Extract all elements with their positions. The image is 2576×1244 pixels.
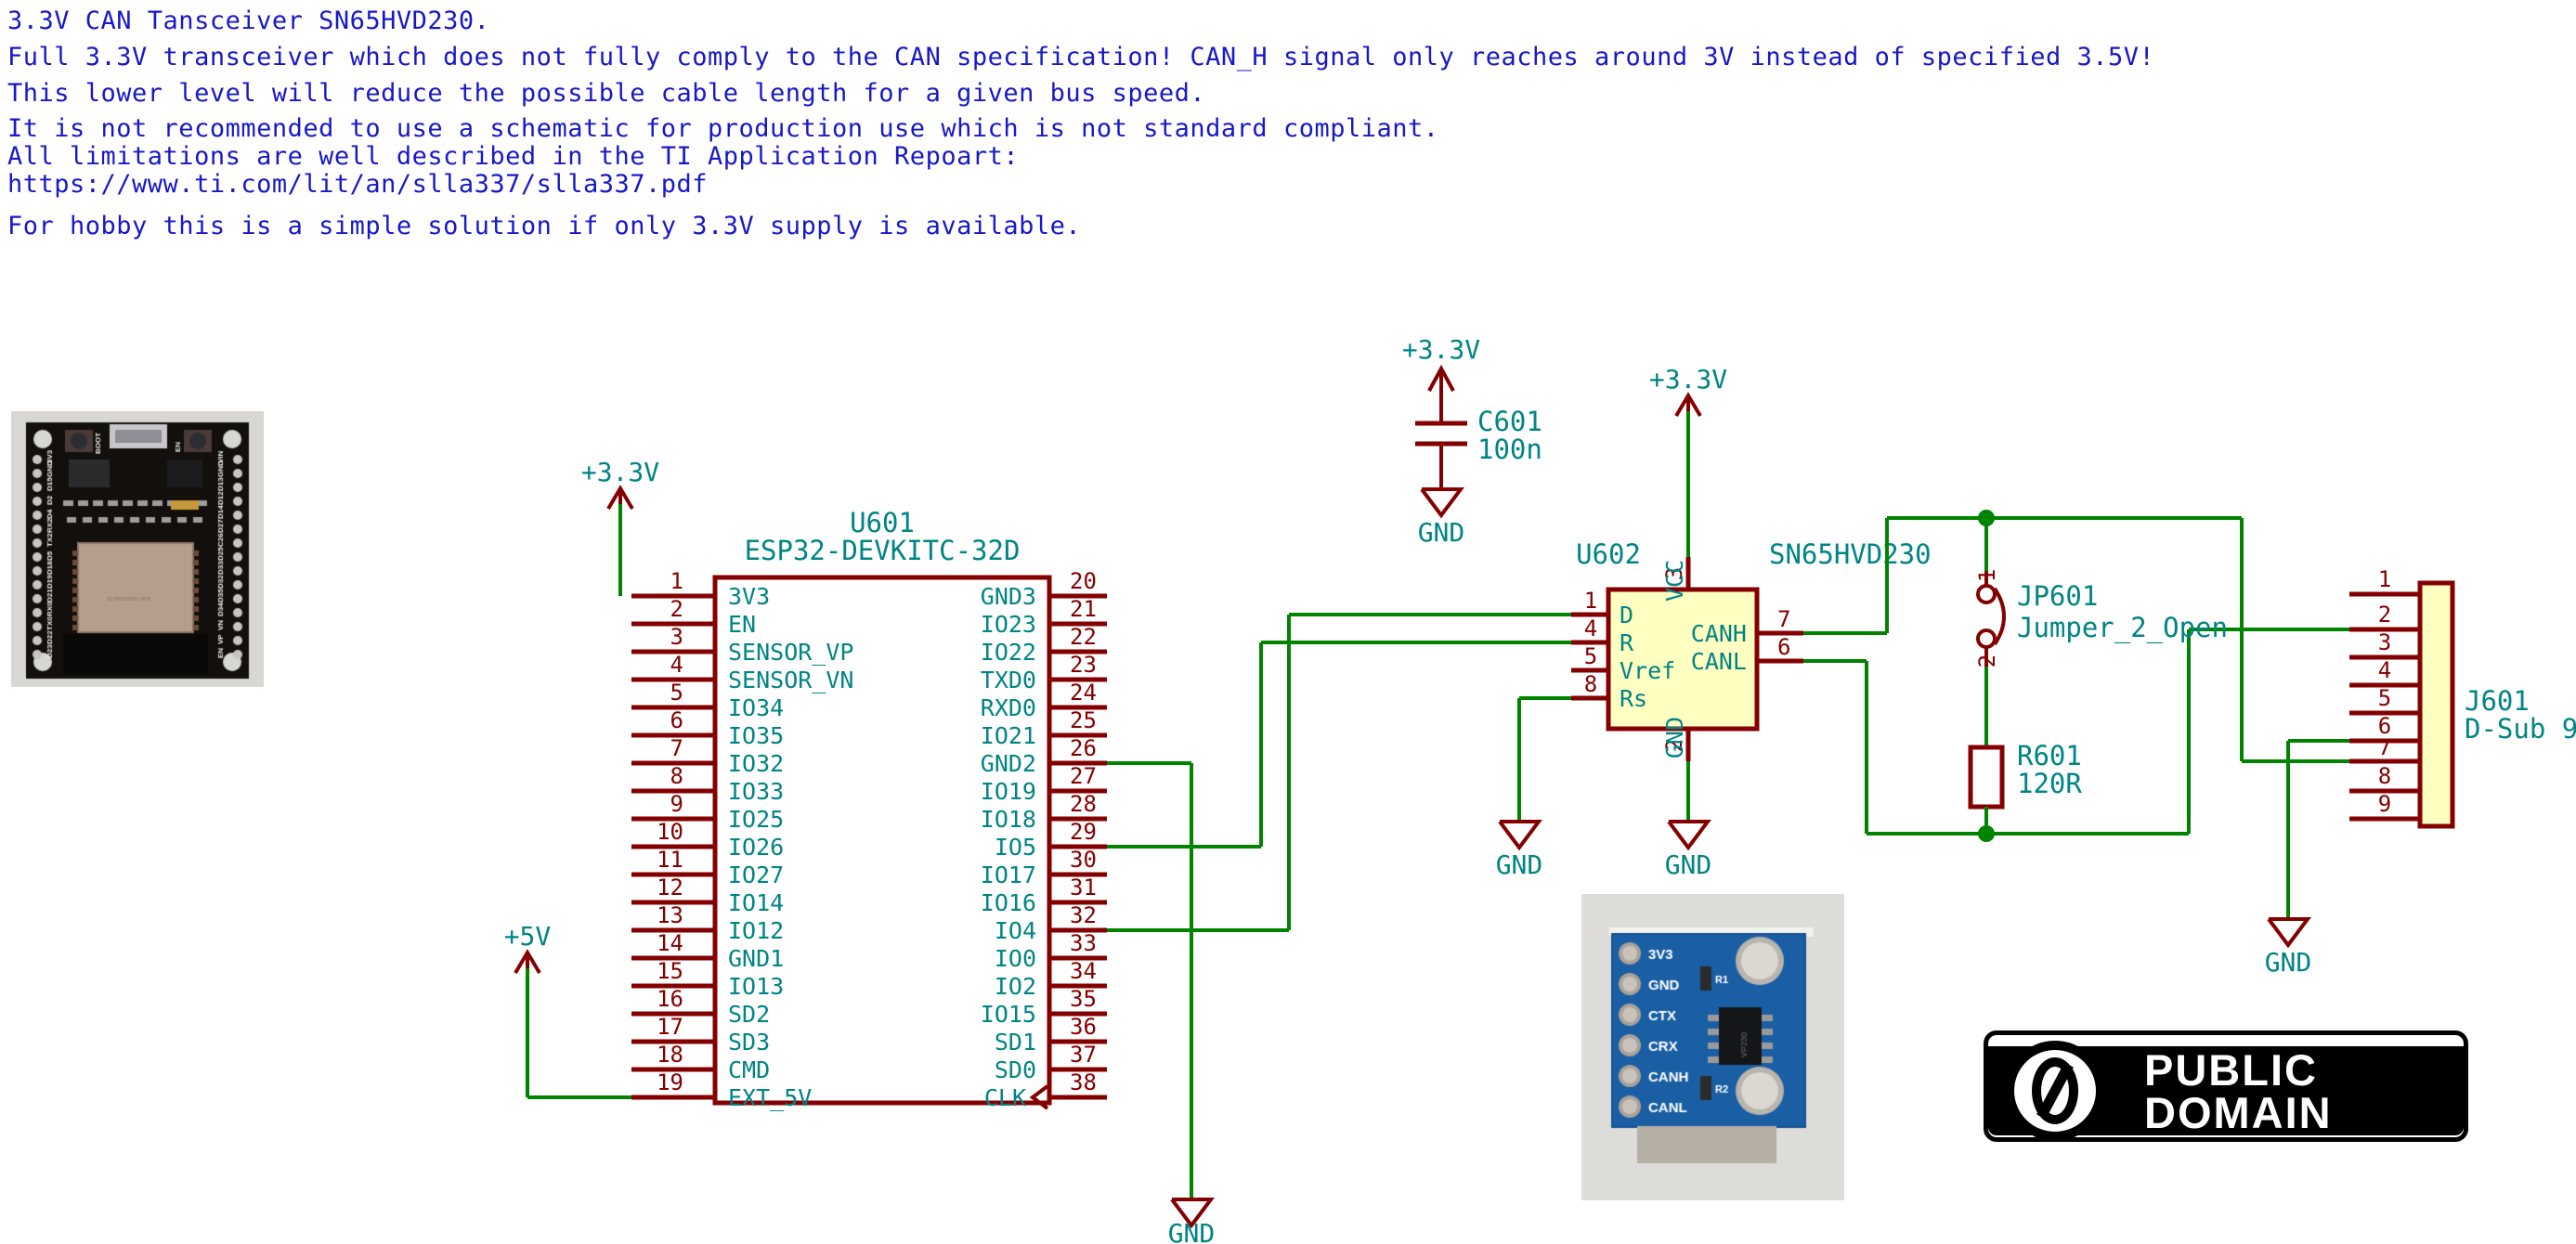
j601-pin-7: 7 xyxy=(2349,734,2420,761)
u601-pin-32: 32IO4 xyxy=(995,902,1107,944)
pin-number: 27 xyxy=(1070,763,1097,789)
pin-label: IO16 xyxy=(981,889,1036,916)
note-line-2: This lower level will reduce the possibl… xyxy=(7,78,1205,109)
u601-pin-11: 11IO27 xyxy=(631,847,784,888)
u601-pin-23: 23TXD0 xyxy=(981,652,1107,693)
u601-pin-28: 28IO18 xyxy=(981,791,1107,833)
pin-number: 21 xyxy=(1070,596,1097,622)
pin-number: 7 xyxy=(2378,734,2391,760)
c601-ref: C601 xyxy=(1477,406,1542,437)
u601-pin-29: 29IO5 xyxy=(995,819,1107,861)
component-c601[interactable]: +3.3V GND C601 100n xyxy=(1402,334,1542,548)
pin-number: 6 xyxy=(1777,634,1790,660)
u601-pin-26: 26GND2 xyxy=(981,735,1107,777)
u601-pin-4: 4SENSOR_VN xyxy=(631,652,853,693)
pin-number: 3 xyxy=(2378,629,2391,655)
u602-ref: U602 xyxy=(1576,538,1641,570)
j601-ref: J601 xyxy=(2465,685,2530,717)
net-gnd-esp32: GND xyxy=(1107,763,1215,1244)
pin-number: 28 xyxy=(1070,791,1097,817)
pin-label: CANH xyxy=(1691,620,1747,647)
pin-number: 32 xyxy=(1070,902,1097,928)
pin-label: GND3 xyxy=(981,583,1036,610)
pin-label: SD2 xyxy=(728,1001,770,1028)
u602-pin-4: 4R xyxy=(1571,616,1634,656)
pin-label: GND2 xyxy=(981,750,1036,777)
pin-number: 15 xyxy=(657,958,683,984)
j601-pin-2: 2 xyxy=(2349,602,2420,629)
u601-pin-24: 24RXD0 xyxy=(981,680,1107,721)
pin-label: CMD xyxy=(728,1056,770,1083)
pin-number: 3 xyxy=(670,624,683,650)
u602-pin-6: 6CANL xyxy=(1691,634,1803,675)
pin-number: 20 xyxy=(1070,568,1097,594)
pin-label: 3V3 xyxy=(728,583,770,610)
power-label: +5V xyxy=(504,921,552,952)
net-gnd-j601: GND xyxy=(2265,741,2349,978)
j601-pin-1: 1 xyxy=(2349,566,2420,594)
gnd-label: GND xyxy=(1168,1218,1216,1244)
power-flag-5v-esp32[interactable]: +5V xyxy=(504,921,631,1097)
u601-pin-22: 22IO22 xyxy=(981,624,1107,666)
pin-number: 38 xyxy=(1070,1069,1097,1095)
j601-pin-9: 9 xyxy=(2349,791,2420,819)
power-label: +3.3V xyxy=(1649,364,1727,395)
pin-number: 1 xyxy=(2378,566,2391,592)
power-flag-3v3-u602[interactable]: +3.3V xyxy=(1649,364,1727,557)
pin-label: Vref xyxy=(1620,657,1675,684)
pin-number: 1 xyxy=(670,568,683,594)
pin-number: 36 xyxy=(1070,1014,1097,1040)
component-u601[interactable]: U601 ESP32-DEVKITC-32D 13V3 2EN 3SENSOR_… xyxy=(631,507,1107,1111)
pin-number: 1 xyxy=(1584,588,1597,614)
pin-label: TXD0 xyxy=(981,667,1036,693)
r601-ref: R601 xyxy=(2017,740,2082,771)
pin-label: IO5 xyxy=(995,834,1036,861)
u601-pin-37: 37SD0 xyxy=(995,1042,1107,1083)
pin-number: 7 xyxy=(1777,606,1790,632)
pin-number: 8 xyxy=(1584,671,1597,697)
public-domain-line1: PUBLIC xyxy=(2144,1050,2318,1092)
pin-number: 7 xyxy=(670,735,683,761)
pin-label: IO15 xyxy=(981,1001,1036,1028)
u601-pin-19: 19EXT_5V xyxy=(631,1069,812,1111)
zero-mark-icon xyxy=(1990,1035,2120,1147)
pin-number: 4 xyxy=(2378,657,2391,683)
schematic-page: 3.3V CAN Tansceiver SN65HVD230. Full 3.3… xyxy=(0,0,2576,1244)
u601-pin-10: 10IO26 xyxy=(631,819,784,861)
pin-label: IO23 xyxy=(981,611,1036,638)
pin-number: 5 xyxy=(670,680,683,706)
u601-pin-12: 12IO14 xyxy=(631,875,784,916)
u601-pin-36: 36SD1 xyxy=(995,1014,1107,1056)
pin-number: 3 xyxy=(1661,567,1687,580)
pin-number: 25 xyxy=(1070,707,1097,733)
component-jp601[interactable]: 1 2 JP601 Jumper_2_Open xyxy=(1974,518,2228,747)
pin-number: 19 xyxy=(657,1069,683,1095)
u601-value: ESP32-DEVKITC-32D xyxy=(745,535,1021,566)
pin-label: IO18 xyxy=(981,806,1036,833)
j601-pin-6: 6 xyxy=(2349,713,2420,741)
pin-label: IO17 xyxy=(981,862,1036,888)
pin-label: IO13 xyxy=(728,973,784,1000)
pin-number: 13 xyxy=(657,902,683,928)
pin-number: 2 xyxy=(1661,739,1687,752)
pin-number: 23 xyxy=(1070,652,1097,678)
pin-number: 22 xyxy=(1070,624,1097,650)
pin-label: SENSOR_VP xyxy=(728,639,853,666)
pin-number: 37 xyxy=(1070,1042,1097,1068)
u601-pin-38: 38 CLK xyxy=(984,1069,1107,1111)
u601-pin-15: 15IO13 xyxy=(631,958,784,1000)
u601-pin-6: 6IO35 xyxy=(631,707,784,749)
pin-number: 30 xyxy=(1070,847,1097,873)
pin-label: IO26 xyxy=(728,834,784,861)
net-io4-to-d xyxy=(1107,615,1571,930)
u601-right-pins: 20GND3 21IO23 22IO22 23TXD0 24RXD0 25IO2… xyxy=(981,568,1107,1111)
pin-label: Rs xyxy=(1620,685,1647,712)
pin-number: 26 xyxy=(1070,735,1097,761)
pin-number: 5 xyxy=(2378,685,2391,711)
note-line-3: It is not recommended to use a schematic… xyxy=(7,113,1439,144)
u601-pin-1: 13V3 xyxy=(631,568,770,610)
u602-pin-2: 2 GND xyxy=(1661,717,1688,761)
gnd-label: GND xyxy=(1496,849,1543,880)
u601-pin-2: 2EN xyxy=(631,596,756,638)
pin-label: CANL xyxy=(1691,648,1747,675)
j601-pin-4: 4 xyxy=(2349,657,2420,685)
pin-number: 31 xyxy=(1070,875,1097,901)
u601-pin-30: 30IO17 xyxy=(981,847,1107,888)
junction-dot xyxy=(1978,510,1995,526)
gnd-label: GND xyxy=(1665,849,1712,880)
u601-pin-16: 16SD2 xyxy=(631,986,770,1028)
gnd-label: GND xyxy=(1418,517,1465,548)
j601-pin-8: 8 xyxy=(2349,763,2420,791)
pin-label: IO4 xyxy=(995,917,1036,944)
pin-label: SD0 xyxy=(995,1056,1036,1083)
pin-label: VCC xyxy=(1661,560,1688,602)
u601-pin-5: 5IO34 xyxy=(631,680,784,721)
pin-number: 6 xyxy=(670,707,683,733)
pin-number: 35 xyxy=(1070,986,1097,1012)
note-line-1: Full 3.3V transceiver which does not ful… xyxy=(7,42,2154,72)
jp601-ref: JP601 xyxy=(2017,580,2098,612)
pin-number: 8 xyxy=(670,763,683,789)
pin-label: EXT_5V xyxy=(728,1084,812,1111)
u601-pin-9: 9IO25 xyxy=(631,791,784,833)
u601-pin-33: 33IO0 xyxy=(995,930,1107,972)
power-label: +3.3V xyxy=(581,457,659,487)
pin-label: SD1 xyxy=(995,1029,1036,1056)
u601-pin-31: 31IO16 xyxy=(981,875,1107,916)
pin-label: IO32 xyxy=(728,750,784,777)
pin-number: 9 xyxy=(670,791,683,817)
public-domain-line2: DOMAIN xyxy=(2144,1093,2333,1134)
u601-pin-17: 17SD3 xyxy=(631,1014,770,1056)
u601-ref: U601 xyxy=(850,507,915,538)
j601-pin-5: 5 xyxy=(2349,685,2420,713)
pin-number: 33 xyxy=(1070,930,1097,956)
note-link-ti[interactable]: https://www.ti.com/lit/an/slla337/slla33… xyxy=(7,169,708,200)
pin-number: 9 xyxy=(2378,791,2391,817)
net-canh xyxy=(1803,510,2349,761)
u602-pin-8: 8Rs xyxy=(1571,671,1647,712)
pin-label: SD3 xyxy=(728,1029,770,1056)
net-canl xyxy=(1803,629,2349,842)
u602-pin-5: 5Vref xyxy=(1571,643,1675,684)
u601-pin-34: 34IO2 xyxy=(995,958,1107,1000)
pin-label: R xyxy=(1620,629,1634,656)
pin-label: IO33 xyxy=(728,778,784,805)
u602-pin-7: 7CANH xyxy=(1691,606,1803,647)
u602-pin-3: 3 VCC xyxy=(1661,557,1688,602)
note-line-5: For hobby this is a simple solution if o… xyxy=(7,211,1081,241)
jp601-value: Jumper_2_Open xyxy=(2017,612,2228,644)
component-r601[interactable]: R601 120R xyxy=(1971,740,2082,834)
pin-label: IO2 xyxy=(995,973,1036,1000)
u601-pin-27: 27IO19 xyxy=(981,763,1107,805)
public-domain-logo: PUBLIC DOMAIN xyxy=(1984,1030,2468,1142)
j601-pin-3: 3 xyxy=(2349,629,2420,657)
u601-pin-14: 14GND1 xyxy=(631,930,784,972)
u601-pin-13: 13IO12 xyxy=(631,902,784,944)
can-module-photo xyxy=(1581,894,1844,1200)
u602-value: SN65HVD230 xyxy=(1769,538,1932,570)
u602-pin-1: 1D xyxy=(1571,588,1633,628)
pin-number: 24 xyxy=(1070,680,1097,706)
pin-label: SENSOR_VN xyxy=(728,667,853,693)
pin-label: GND xyxy=(1661,717,1688,758)
pin-number: 17 xyxy=(657,1014,683,1040)
u601-pin-7: 7IO32 xyxy=(631,735,784,777)
esp32-board-photo xyxy=(11,411,264,687)
pin-label: IO34 xyxy=(728,694,784,721)
pin-number: 4 xyxy=(670,652,683,678)
u601-pin-25: 25IO21 xyxy=(981,707,1107,749)
component-j601[interactable]: J601 D-Sub 9 male 1 2 3 4 5 6 7 8 9 xyxy=(2349,566,2576,826)
gnd-label: GND xyxy=(2265,947,2312,978)
pin-label: IO12 xyxy=(728,917,784,944)
note-title: 3.3V CAN Tansceiver SN65HVD230. xyxy=(7,6,489,36)
component-u602[interactable]: U602 SN65HVD230 1D 4R 5Vref 8Rs 7CANH 6C… xyxy=(1571,538,1932,761)
power-label: +3.3V xyxy=(1402,334,1480,365)
pin-number: 29 xyxy=(1070,819,1097,845)
pin-label: IO25 xyxy=(728,806,784,833)
u601-pin-20: 20GND3 xyxy=(981,568,1107,610)
pin-number: 10 xyxy=(657,819,683,845)
pin-label: IO21 xyxy=(981,722,1036,749)
pin-label: IO14 xyxy=(728,889,784,916)
r601-value: 120R xyxy=(2017,768,2082,799)
net-gnd-u602: GND xyxy=(1665,761,1712,880)
net-io5-to-r xyxy=(1107,642,1571,847)
u601-pin-35: 35IO15 xyxy=(981,986,1107,1028)
pin-number: 8 xyxy=(2378,763,2391,789)
pin-label: GND1 xyxy=(728,945,784,972)
jp601-pin-2-number: 2 xyxy=(1974,654,2000,667)
pin-number: 2 xyxy=(2378,602,2391,628)
pin-label: IO22 xyxy=(981,639,1036,666)
pin-label: IO19 xyxy=(981,778,1036,805)
junction-dot xyxy=(1978,825,1995,842)
c601-value: 100n xyxy=(1477,434,1542,465)
pin-number: 12 xyxy=(657,875,683,901)
pin-label: IO27 xyxy=(728,862,784,888)
pin-label: IO35 xyxy=(728,722,784,749)
pin-number: 18 xyxy=(657,1042,683,1068)
u601-pin-3: 3SENSOR_VP xyxy=(631,624,853,666)
pin-label: CLK xyxy=(984,1084,1026,1111)
pin-number: 14 xyxy=(657,930,683,956)
u601-left-pins: 13V3 2EN 3SENSOR_VP 4SENSOR_VN 5IO34 6IO… xyxy=(631,568,853,1111)
u601-pin-18: 18CMD xyxy=(631,1042,770,1083)
jp601-pin-1-number: 1 xyxy=(1974,569,2000,582)
pin-label: RXD0 xyxy=(981,694,1036,721)
note-line-4: All limitations are well described in th… xyxy=(7,141,1019,172)
pin-number: 34 xyxy=(1070,958,1097,984)
pin-number: 4 xyxy=(1584,616,1597,641)
u601-pin-8: 8IO33 xyxy=(631,763,784,805)
net-gnd-rs: GND xyxy=(1496,698,1571,880)
pin-label: IO0 xyxy=(995,945,1036,972)
pin-number: 16 xyxy=(657,986,683,1012)
power-flag-3v3-esp32[interactable]: +3.3V xyxy=(581,457,659,596)
u601-pin-21: 21IO23 xyxy=(981,596,1107,638)
pin-label: EN xyxy=(728,611,756,638)
pin-number: 11 xyxy=(657,847,683,873)
pin-number: 5 xyxy=(1584,643,1597,669)
pin-number: 2 xyxy=(670,596,683,622)
pin-number: 6 xyxy=(2378,713,2391,739)
j601-value: D-Sub 9 male xyxy=(2465,713,2576,745)
pin-label: D xyxy=(1620,602,1633,628)
